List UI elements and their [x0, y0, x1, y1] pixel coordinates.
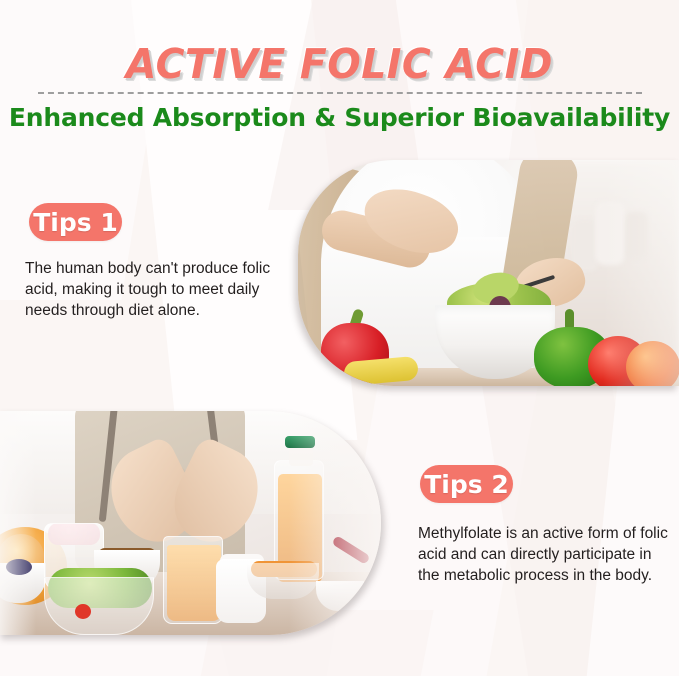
tip-2-badge: Tips 2: [420, 465, 513, 503]
photo-right-fade: [603, 160, 679, 386]
heart-hands-breakfast-scene: [0, 411, 381, 635]
tip-1-badge: Tips 1: [29, 203, 122, 241]
page-title: ACTIVE FOLIC ACID: [126, 40, 553, 88]
tip-1-image: [298, 160, 679, 386]
photo-right-fade: [289, 411, 381, 635]
salad-bowl: [44, 577, 154, 635]
tip-2-text: Methylfolate is an active form of folic …: [418, 523, 668, 586]
tip-2-image: [0, 411, 381, 635]
page-subtitle: Enhanced Absorption & Superior Bioavaila…: [0, 103, 679, 132]
cherry-tomato: [75, 604, 91, 619]
tip-1-text: The human body can't produce folic acid,…: [25, 258, 303, 321]
header-divider: [38, 92, 642, 94]
photo-left-fade: [0, 411, 36, 635]
header: ACTIVE FOLIC ACID: [0, 40, 679, 88]
infographic-page: ACTIVE FOLIC ACID Enhanced Absorption & …: [0, 0, 679, 676]
juice-glass: [163, 536, 223, 624]
pregnant-woman-salad-scene: [298, 160, 679, 386]
background-panel: [580, 360, 679, 676]
